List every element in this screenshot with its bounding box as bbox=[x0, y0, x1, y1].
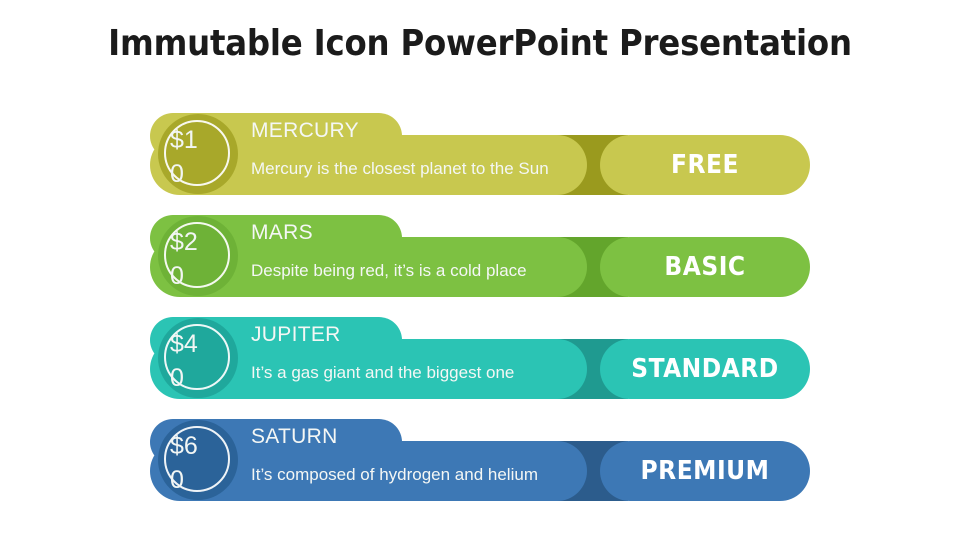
price-badge-value: $40 bbox=[170, 327, 208, 395]
planet-description: Mercury is the closest planet to the Sun bbox=[251, 158, 549, 180]
planet-description: It’s a gas giant and the biggest one bbox=[251, 362, 514, 384]
tier-pill[interactable]: FREE bbox=[600, 135, 810, 195]
pricing-row[interactable]: $40JUPITERIt’s a gas giant and the bigge… bbox=[0, 317, 960, 399]
tier-pill[interactable]: BASIC bbox=[600, 237, 810, 297]
pricing-row[interactable]: $60SATURNIt’s composed of hydrogen and h… bbox=[0, 419, 960, 501]
row-text-block: SATURNIt’s composed of hydrogen and heli… bbox=[251, 423, 457, 497]
planet-description: It’s composed of hydrogen and helium bbox=[251, 464, 538, 486]
pricing-row[interactable]: $20MARSDespite being red, it’s is a cold… bbox=[0, 215, 960, 297]
tier-pill[interactable]: STANDARD bbox=[600, 339, 810, 399]
planet-name: JUPITER bbox=[251, 321, 457, 348]
planet-name: SATURN bbox=[251, 423, 457, 450]
tier-pill[interactable]: PREMIUM bbox=[600, 441, 810, 501]
pricing-row[interactable]: $10MERCURYMercury is the closest planet … bbox=[0, 113, 960, 195]
tier-label: PREMIUM bbox=[600, 441, 810, 501]
planet-name: MARS bbox=[251, 219, 457, 246]
row-text-block: MERCURYMercury is the closest planet to … bbox=[251, 117, 457, 191]
planet-description: Despite being red, it’s is a cold place bbox=[251, 260, 527, 282]
price-badge[interactable]: $10 bbox=[158, 114, 238, 194]
tier-label: BASIC bbox=[600, 237, 810, 297]
tier-label: FREE bbox=[600, 135, 810, 195]
planet-name: MERCURY bbox=[251, 117, 457, 144]
price-badge[interactable]: $20 bbox=[158, 216, 238, 296]
price-badge[interactable]: $40 bbox=[158, 318, 238, 398]
row-text-block: MARSDespite being red, it’s is a cold pl… bbox=[251, 219, 457, 293]
slide-canvas: Immutable Icon PowerPoint Presentation $… bbox=[0, 0, 960, 540]
price-badge-value: $60 bbox=[170, 429, 208, 497]
row-text-block: JUPITERIt’s a gas giant and the biggest … bbox=[251, 321, 457, 395]
tier-label: STANDARD bbox=[600, 339, 810, 399]
price-badge-value: $10 bbox=[170, 123, 208, 191]
price-badge[interactable]: $60 bbox=[158, 420, 238, 500]
page-title: Immutable Icon PowerPoint Presentation bbox=[0, 22, 960, 66]
price-badge-value: $20 bbox=[170, 225, 208, 293]
